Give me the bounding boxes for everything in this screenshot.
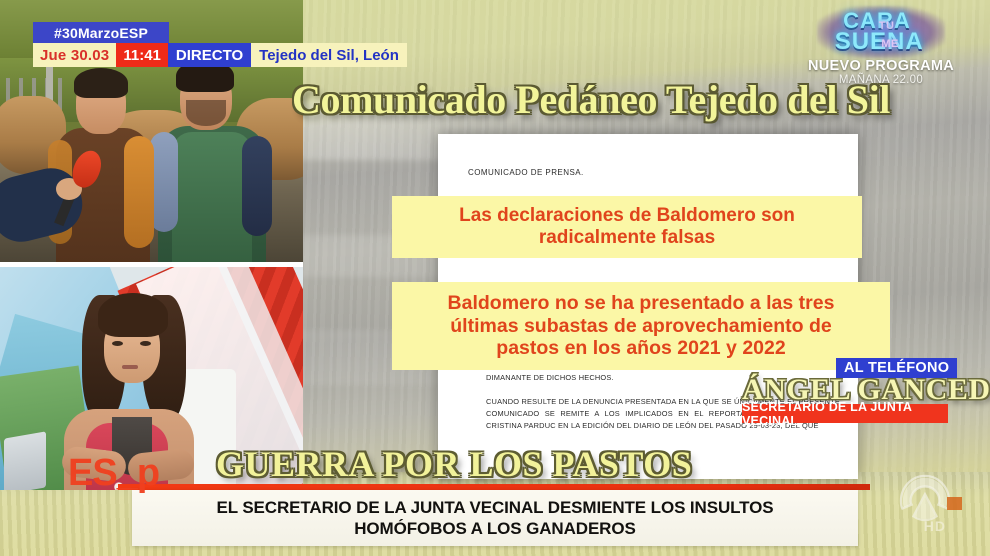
hd-badge: HD bbox=[924, 518, 946, 534]
laptop bbox=[4, 431, 46, 490]
pull-quote-2-line-1: Baldomero no se ha presentado a las tres bbox=[392, 292, 890, 314]
page-title: Comunicado Pedáneo Tejedo del Sil bbox=[292, 76, 990, 123]
pull-quote-2-line-3: pastos en los años 2021 y 2022 bbox=[392, 337, 890, 359]
broadcast-screen: #30MarzoESP Jue 30.03 11:41 DIRECTO Teje… bbox=[0, 0, 990, 556]
video-panel-divider bbox=[0, 262, 303, 267]
pull-quote-1-line-1: Las declaraciones de Baldomero son bbox=[392, 205, 862, 227]
promo-logo-word-2: SUENA bbox=[835, 28, 924, 56]
tu-cara-me-suena-logo: CARA TU SUENA ME bbox=[786, 4, 976, 60]
pull-quote-1-line-2: radicalmente falsas bbox=[392, 227, 862, 249]
pull-quote-2-line-2: últimas subastas de aprovechamiento de bbox=[392, 315, 890, 337]
broadcast-location: Tejedo del Sil, León bbox=[251, 43, 407, 67]
site-watermark: ES_p bbox=[68, 452, 159, 495]
caption-line-1: EL SECRETARIO DE LA JUNTA VECINAL DESMIE… bbox=[216, 497, 773, 518]
hashtag-badge: #30MarzoESP bbox=[33, 22, 169, 43]
promo-new-program-label: NUEVO PROGRAMA bbox=[786, 58, 976, 74]
document-header: COMUNICADO DE PRENSA. bbox=[468, 168, 584, 177]
live-badge: DIRECTO bbox=[168, 43, 251, 67]
pull-quote-2: Baldomero no se ha presentado a las tres… bbox=[392, 282, 890, 370]
caption-band: EL SECRETARIO DE LA JUNTA VECINAL DESMIE… bbox=[132, 490, 858, 546]
program-promo: CARA TU SUENA ME NUEVO PROGRAMA MAÑANA 2… bbox=[786, 4, 976, 86]
guest-role: SECRETARIO DE LA JUNTA VECINAL bbox=[742, 404, 948, 423]
channel-bug-accent bbox=[947, 497, 962, 510]
broadcast-date: Jue 30.03 bbox=[33, 43, 116, 67]
promo-logo-small-2: ME bbox=[881, 38, 899, 50]
caption-line-2: HOMÓFOBOS A LOS GANADEROS bbox=[354, 518, 635, 539]
broadcast-time: 11:41 bbox=[116, 43, 168, 67]
broadcast-info-bar: Jue 30.03 11:41 DIRECTO Tejedo del Sil, … bbox=[33, 43, 407, 67]
story-headline: GUERRA POR LOS PASTOS bbox=[216, 443, 692, 485]
pull-quote-1: Las declaraciones de Baldomero son radic… bbox=[392, 196, 862, 258]
antena3-logo-icon bbox=[896, 472, 954, 522]
